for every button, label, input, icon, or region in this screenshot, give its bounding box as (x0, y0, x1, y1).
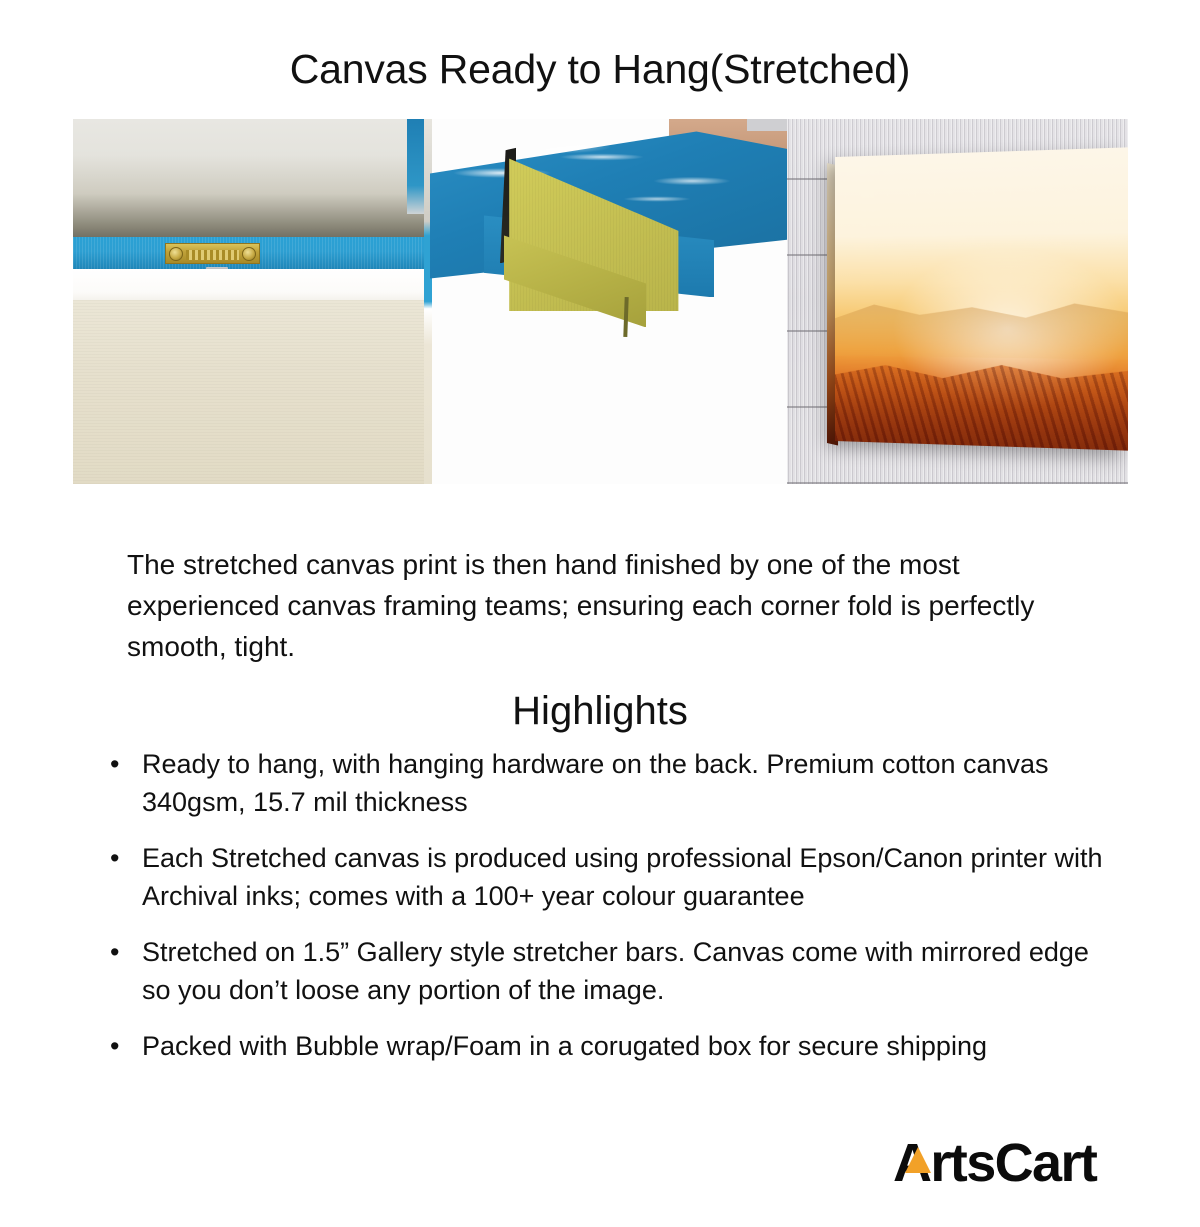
brand-logo-text: ArtsCart (893, 1136, 1096, 1190)
page-title: Canvas Ready to Hang(Stretched) (0, 27, 1200, 90)
canvas-back-backdrop (73, 119, 424, 239)
gallery-image-canvas-corner-fold[interactable] (424, 119, 787, 484)
gallery-image-canvas-on-wall[interactable] (787, 119, 1128, 484)
hanging-canvas-artwork (835, 148, 1128, 451)
hanging-hardware-bracket (165, 243, 260, 264)
product-image-strip (73, 119, 1128, 484)
highlights-heading: Highlights (0, 688, 1200, 734)
list-item-text: Packed with Bubble wrap/Foam in a coruga… (142, 1031, 987, 1061)
canvas-back-cotton-surface (73, 300, 424, 484)
hardware-sawtooth-icon (186, 250, 239, 260)
bullet-marker-icon: • (110, 839, 119, 877)
hardware-screw-right-icon (242, 247, 256, 261)
brand-logo: ArtsCart (893, 1131, 1096, 1195)
list-item-text: Stretched on 1.5” Gallery style stretche… (142, 937, 1089, 1005)
intro-paragraph: The stretched canvas print is then hand … (127, 544, 1082, 667)
bullet-marker-icon: • (110, 745, 119, 783)
bullet-marker-icon: • (110, 1027, 119, 1065)
bullet-marker-icon: • (110, 933, 119, 971)
corner-fold-top-gray-cap (747, 119, 787, 131)
list-item-text: Ready to hang, with hanging hardware on … (142, 749, 1049, 817)
canvas-back-white-band (73, 269, 424, 302)
gallery-image-canvas-back-hardware[interactable] (73, 119, 424, 484)
highlights-list: • Ready to hang, with hanging hardware o… (104, 745, 1124, 1083)
hardware-screw-left-icon (169, 247, 183, 261)
canvas-back-right-sliver (407, 119, 424, 214)
list-item: • Stretched on 1.5” Gallery style stretc… (104, 933, 1124, 1009)
list-item: • Ready to hang, with hanging hardware o… (104, 745, 1124, 821)
list-item: • Each Stretched canvas is produced usin… (104, 839, 1124, 915)
list-item: • Packed with Bubble wrap/Foam in a coru… (104, 1027, 1124, 1065)
list-item-text: Each Stretched canvas is produced using … (142, 843, 1103, 911)
